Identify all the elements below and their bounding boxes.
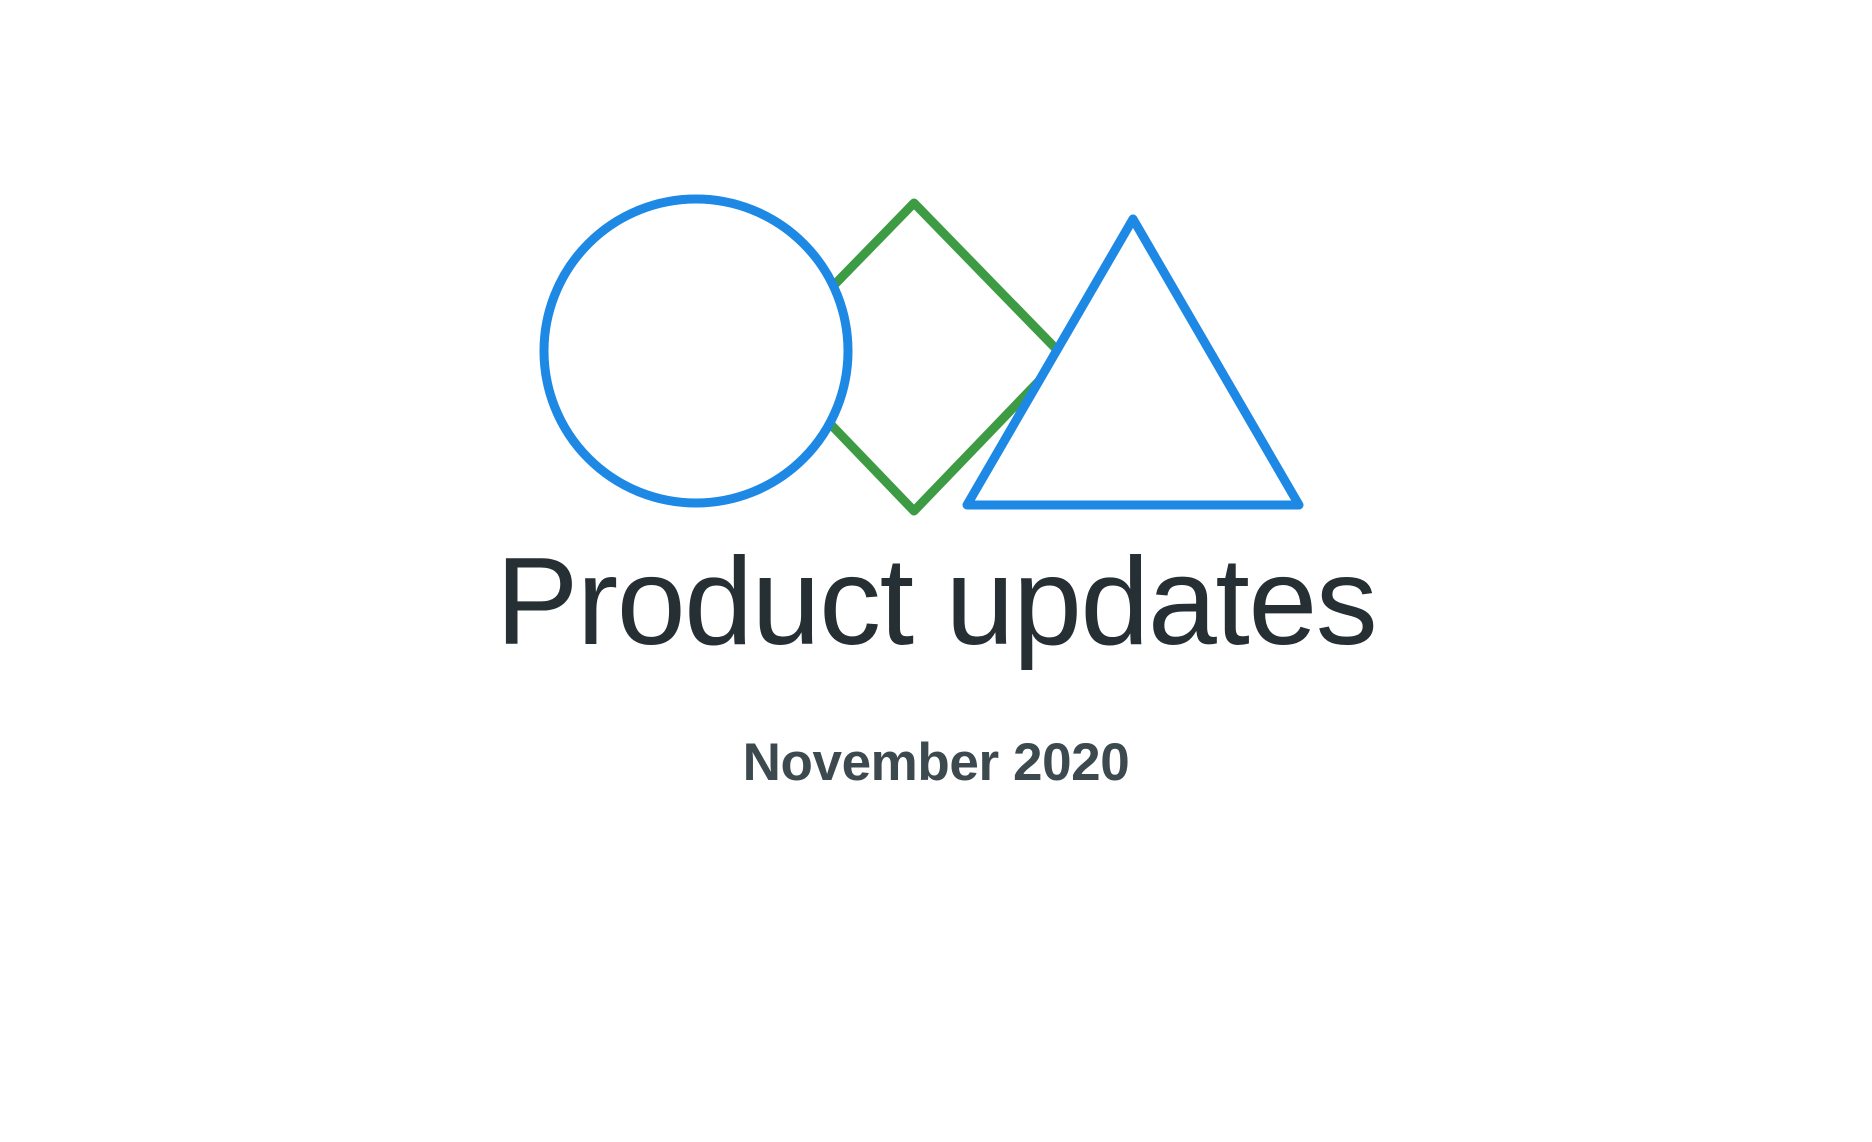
page-subtitle: November 2020: [0, 736, 1872, 789]
page-title: Product updates: [0, 540, 1872, 664]
shapes-lockup: [0, 0, 1872, 620]
circle-shape-icon: [544, 199, 848, 503]
slide-canvas: Product updates November 2020: [0, 0, 1872, 1142]
triangle-shape-icon: [967, 219, 1299, 505]
diamond-shape-icon: [765, 203, 1063, 511]
title-block: Product updates November 2020: [0, 540, 1872, 789]
